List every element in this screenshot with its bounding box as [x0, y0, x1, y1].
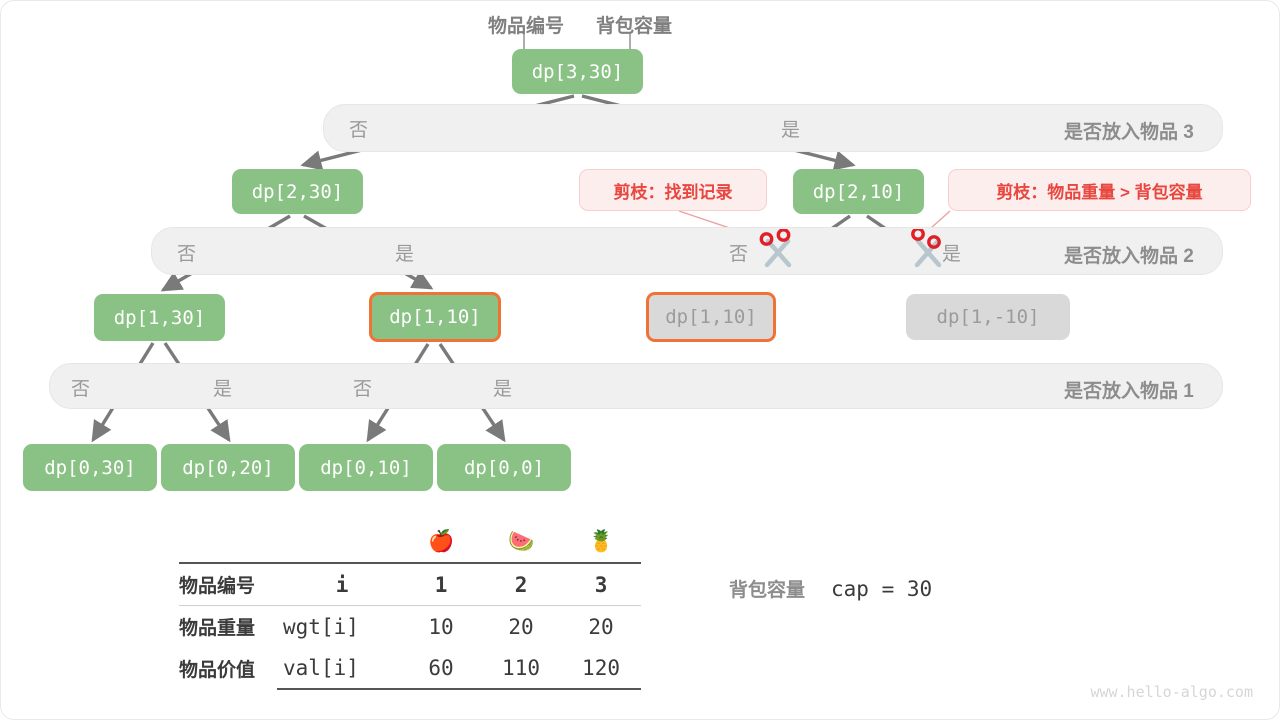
row-header-item-value: 物品价值 — [179, 647, 277, 689]
tree-node-dp-0-0[interactable]: dp[0,0] — [437, 444, 571, 491]
branch-label-no-2a: 否 — [177, 239, 196, 266]
branch-label-yes-3: 是 — [781, 115, 800, 142]
cell-wgt-3: 20 — [561, 606, 641, 648]
tree-node-dp-2-10[interactable]: dp[2,10] — [793, 169, 924, 214]
cell-val-3: 120 — [561, 647, 641, 689]
capacity-info: 背包容量 cap = 30 — [729, 575, 932, 602]
watermark: www.hello-algo.com — [1090, 683, 1253, 701]
cell-wgt-1: 10 — [401, 606, 481, 648]
pineapple-icon: 🍍 — [561, 521, 641, 563]
table-emoji-row: 🍎 🍉 🍍 — [179, 521, 641, 563]
capacity-value: cap = 30 — [831, 577, 932, 601]
branch-label-no-1b: 否 — [353, 374, 372, 401]
row-name-val: val[i] — [277, 647, 401, 689]
top-label-capacity: 背包容量 — [596, 11, 672, 38]
tree-node-dp-2-30[interactable]: dp[2,30] — [232, 169, 363, 214]
tree-node-dp-1-10-memoized[interactable]: dp[1,10] — [646, 292, 776, 342]
table-row-value: 物品价值 val[i] 60 110 120 — [179, 647, 641, 689]
level-label-item2: 是否放入物品 2 — [1064, 241, 1194, 268]
apple-icon: 🍎 — [401, 521, 481, 563]
diagram-canvas: 物品编号 背包容量 否 是 是否放入物品 3 否 是 否 是 是否放入物品 2 … — [0, 0, 1280, 720]
row-header-item-index: 物品编号 — [179, 563, 277, 606]
tree-node-dp-0-20[interactable]: dp[0,20] — [161, 444, 295, 491]
watermelon-icon: 🍉 — [481, 521, 561, 563]
level-label-item3: 是否放入物品 3 — [1064, 117, 1194, 144]
top-label-item-index: 物品编号 — [488, 11, 564, 38]
cell-i-3: 3 — [561, 563, 641, 606]
branch-label-no-1a: 否 — [71, 374, 90, 401]
branch-label-yes-1a: 是 — [213, 374, 232, 401]
row-name-wgt: wgt[i] — [277, 606, 401, 648]
branch-label-no-2b: 否 — [729, 239, 748, 266]
cell-wgt-2: 20 — [481, 606, 561, 648]
tree-node-dp-1-30[interactable]: dp[1,30] — [94, 294, 225, 341]
row-name-i: i — [277, 563, 401, 606]
tip-pruning-memo: 剪枝：找到记录 — [579, 169, 767, 211]
items-table: 🍎 🍉 🍍 物品编号 i 1 2 3 物品重量 wgt[i] 10 20 20 … — [179, 521, 641, 694]
scissors-icon-memo — [759, 229, 797, 269]
branch-label-no-3: 否 — [349, 115, 368, 142]
cell-val-1: 60 — [401, 647, 481, 689]
table-row-weight: 物品重量 wgt[i] 10 20 20 — [179, 606, 641, 648]
table-row-index: 物品编号 i 1 2 3 — [179, 563, 641, 606]
cell-i-1: 1 — [401, 563, 481, 606]
cell-val-2: 110 — [481, 647, 561, 689]
tree-node-dp-3-30[interactable]: dp[3,30] — [512, 49, 643, 94]
tree-node-dp-1-10-computed[interactable]: dp[1,10] — [369, 292, 501, 342]
tree-node-dp-0-30[interactable]: dp[0,30] — [23, 444, 157, 491]
tip-pruning-weight: 剪枝：物品重量 > 背包容量 — [948, 169, 1251, 211]
tree-node-dp-0-10[interactable]: dp[0,10] — [299, 444, 433, 491]
branch-label-yes-2a: 是 — [395, 239, 414, 266]
level-label-item1: 是否放入物品 1 — [1064, 376, 1194, 403]
tree-node-dp-1-minus10[interactable]: dp[1,-10] — [906, 294, 1070, 340]
table-bottom-rule — [179, 689, 641, 694]
level-bar-item2 — [151, 227, 1223, 275]
branch-label-yes-1b: 是 — [493, 374, 512, 401]
capacity-label: 背包容量 — [729, 575, 805, 602]
scissors-icon-weight — [909, 229, 947, 269]
cell-i-2: 2 — [481, 563, 561, 606]
row-header-item-weight: 物品重量 — [179, 606, 277, 648]
